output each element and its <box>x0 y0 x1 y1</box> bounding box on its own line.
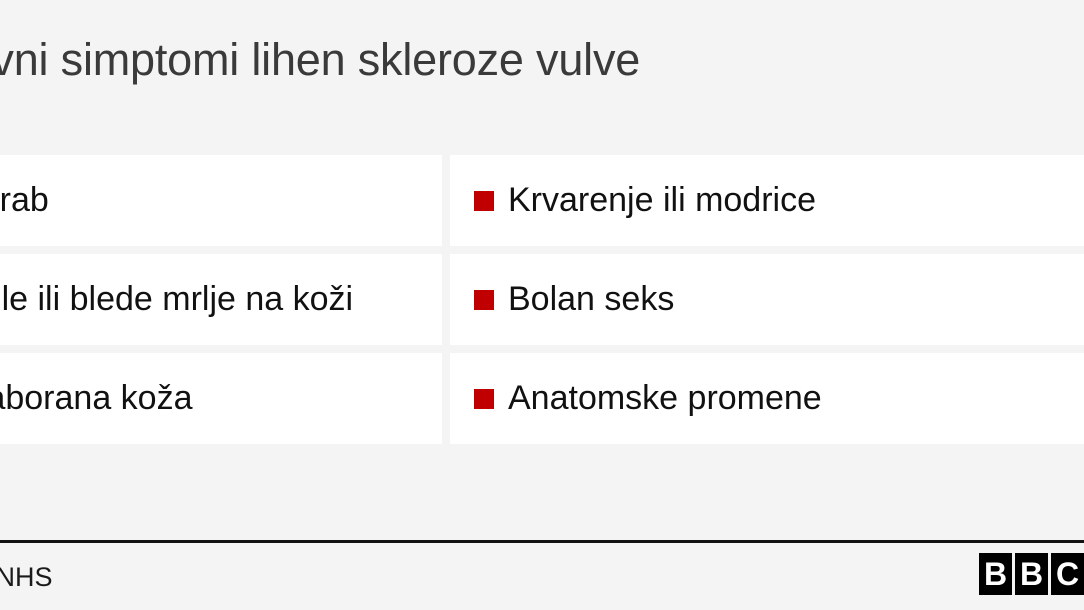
infographic-root: Glavni simptomi lihen skleroze vulve Svr… <box>0 0 1084 610</box>
symptom-cell-left: Bele ili blede mrlje na koži <box>0 254 442 345</box>
table-row: Bele ili blede mrlje na koži Bolan seks <box>0 254 1084 345</box>
table-row: Svrab Krvarenje ili modrice <box>0 155 1084 246</box>
bbc-logo: B B C <box>979 553 1084 595</box>
symptom-label: Bolan seks <box>508 280 674 319</box>
footer: Izvor: NHS B B C <box>0 540 1084 603</box>
symptom-table: Svrab Krvarenje ili modrice Bele ili ble… <box>0 155 1084 452</box>
symptom-label: Bele ili blede mrlje na koži <box>0 280 353 319</box>
bbc-logo-block-2: B <box>1015 553 1048 595</box>
source-attribution: Izvor: NHS <box>0 562 53 593</box>
title-area: Glavni simptomi lihen skleroze vulve <box>0 0 1084 120</box>
bbc-logo-block-1: B <box>979 553 1012 595</box>
symptom-label: Izaborana koža <box>0 379 193 418</box>
symptom-label: Svrab <box>0 181 49 220</box>
symptom-cell-left: Izaborana koža <box>0 353 442 444</box>
red-square-bullet-icon <box>474 389 494 409</box>
red-square-bullet-icon <box>474 290 494 310</box>
symptom-cell-left: Svrab <box>0 155 442 246</box>
table-row: Izaborana koža Anatomske promene <box>0 353 1084 444</box>
red-square-bullet-icon <box>474 191 494 211</box>
symptom-label: Krvarenje ili modrice <box>508 181 816 220</box>
symptom-label: Anatomske promene <box>508 379 822 418</box>
page-title: Glavni simptomi lihen skleroze vulve <box>0 35 640 85</box>
symptom-cell-right: Anatomske promene <box>450 353 1084 444</box>
symptom-cell-right: Krvarenje ili modrice <box>450 155 1084 246</box>
symptom-cell-right: Bolan seks <box>450 254 1084 345</box>
footer-content: Izvor: NHS B B C <box>0 543 1084 603</box>
bbc-logo-block-3: C <box>1051 553 1084 595</box>
